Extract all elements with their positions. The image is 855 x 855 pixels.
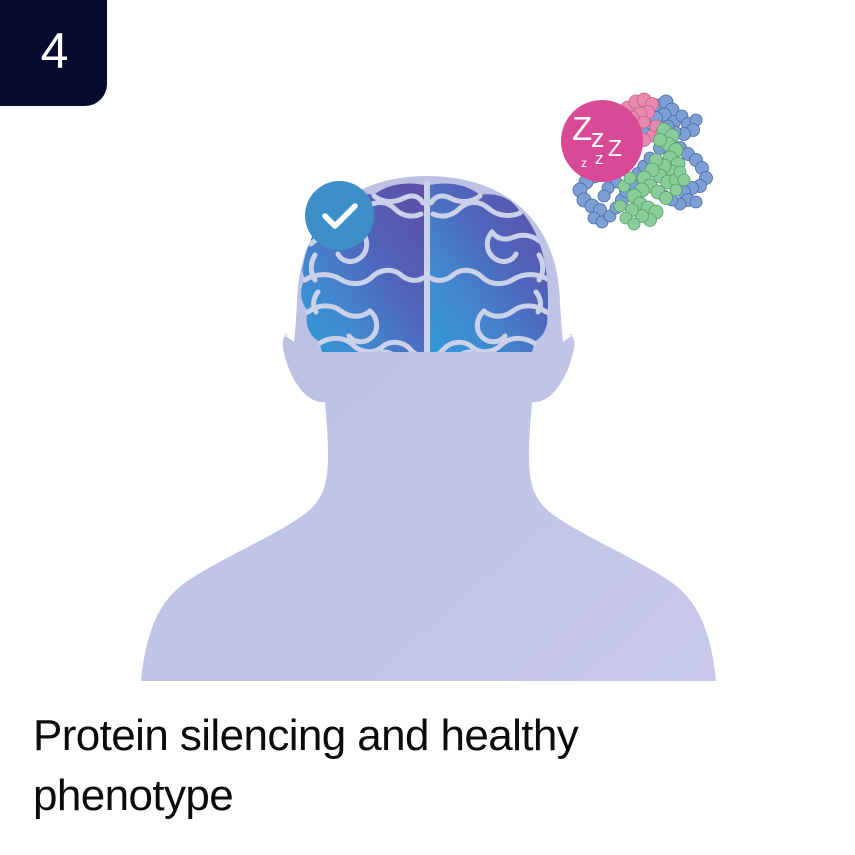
slide-canvas: Z z Z z z 4 Protein silencing and health… xyxy=(0,0,855,855)
zzz-glyph-5: z xyxy=(581,157,587,169)
check-badge xyxy=(305,181,374,250)
check-icon xyxy=(305,181,374,250)
zzz-sleep-bubble: Z z Z z z xyxy=(561,100,643,182)
step-number-badge: 4 xyxy=(0,0,107,106)
zzz-glyph-2: z xyxy=(591,125,605,152)
page-title: Protein silencing and healthy phenotype xyxy=(33,706,733,826)
step-number-label: 4 xyxy=(41,26,69,76)
zzz-glyph-3: Z xyxy=(608,137,622,160)
zzz-glyph-4: z xyxy=(595,150,604,167)
illustration-area xyxy=(0,0,855,690)
zzz-glyph-1: Z xyxy=(572,112,592,145)
